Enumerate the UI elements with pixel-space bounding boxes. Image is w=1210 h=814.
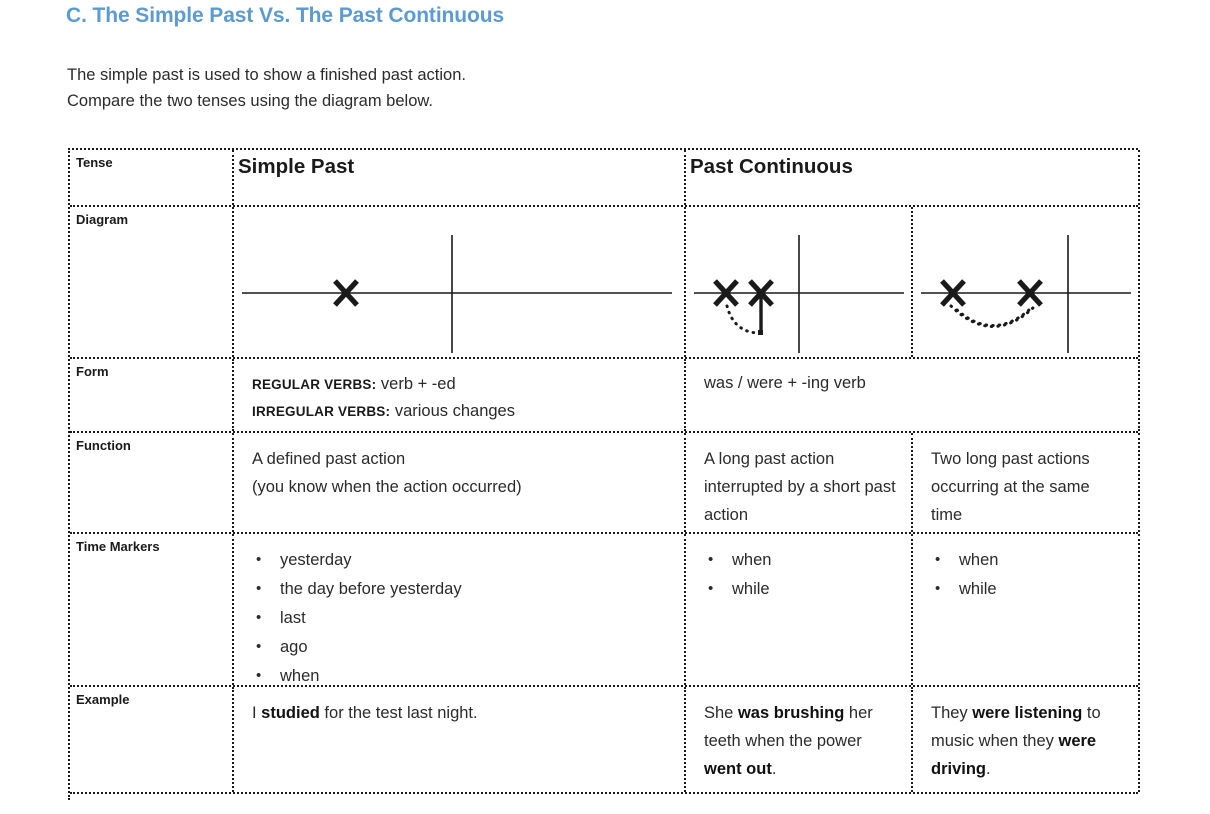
diagram-past-continuous-parallel [913, 207, 1138, 357]
example-pc-parallel-text: They were listening to music when they w… [927, 697, 1124, 783]
example-pc-interrupted-text: She was brushing her teeth when the powe… [700, 697, 897, 783]
function-pc-interrupted-cell: A long past action interrupted by a shor… [686, 433, 913, 532]
intro-line-2: Compare the two tenses using the diagram… [67, 88, 466, 114]
function-simple-past-line-1: A defined past action [252, 445, 670, 473]
time-markers-pc-parallel-cell: whenwhile [913, 534, 1140, 685]
example-simple-past-cell: I studied for the test last night. [234, 687, 686, 792]
form-regular-verbs-line: REGULAR VERBS: verb + -ed [252, 371, 670, 398]
diagram-simple-past [234, 207, 684, 357]
page-title: C. The Simple Past Vs. The Past Continuo… [66, 4, 504, 28]
diagram-past-continuous-interrupted [686, 207, 911, 357]
example-pc-parallel-cell: They were listening to music when they w… [913, 687, 1140, 792]
list-item: while [706, 575, 897, 604]
list-item: when [706, 546, 897, 575]
diagram-pc-interrupted-cell [686, 207, 913, 357]
form-irregular-verbs-line: IRREGULAR VERBS: various changes [252, 398, 670, 425]
function-pc-parallel-text: Two long past actions occurring at the s… [927, 443, 1124, 529]
list-item: while [933, 575, 1124, 604]
table-row-form: Form REGULAR VERBS: verb + -ed IRREGULAR… [70, 359, 1138, 433]
diagram-pc-parallel-cell [913, 207, 1140, 357]
row-label-form: Form [70, 359, 234, 431]
table-row-diagram: Diagram [70, 207, 1138, 359]
row-label-time-markers: Time Markers [70, 534, 234, 685]
table-row-example: Example I studied for the test last nigh… [70, 687, 1138, 794]
example-pc-interrupted-cell: She was brushing her teeth when the powe… [686, 687, 913, 792]
table-row-function: Function A defined past action (you know… [70, 433, 1138, 534]
form-regular-verbs-value: verb + -ed [381, 375, 456, 393]
form-regular-verbs-label: REGULAR VERBS: [252, 377, 376, 392]
example-simple-past-text: I studied for the test last night. [248, 697, 670, 727]
function-pc-parallel-cell: Two long past actions occurring at the s… [913, 433, 1140, 532]
time-markers-pc-parallel-list: whenwhile [927, 544, 1124, 604]
list-item: last [254, 604, 670, 633]
form-past-continuous-value: was / were + -ing verb [700, 369, 1124, 397]
function-pc-interrupted-text: A long past action interrupted by a shor… [700, 443, 897, 529]
time-markers-simple-past-cell: yesterdaythe day before yesterdaylastago… [234, 534, 686, 685]
form-simple-past-cell: REGULAR VERBS: verb + -ed IRREGULAR VERB… [234, 359, 686, 431]
time-markers-simple-past-list: yesterdaythe day before yesterdaylastago… [248, 544, 670, 691]
time-markers-pc-interrupted-list: whenwhile [700, 544, 897, 604]
intro-paragraph: The simple past is used to show a finish… [67, 62, 466, 114]
list-item: the day before yesterday [254, 575, 670, 604]
table-header-row: Tense Simple Past Past Continuous [70, 150, 1138, 207]
row-label-diagram: Diagram [70, 207, 234, 357]
function-simple-past-cell: A defined past action (you know when the… [234, 433, 686, 532]
row-label-example: Example [70, 687, 234, 792]
list-item: when [933, 546, 1124, 575]
header-past-continuous: Past Continuous [686, 150, 1140, 205]
time-markers-pc-interrupted-cell: whenwhile [686, 534, 913, 685]
list-item: yesterday [254, 546, 670, 575]
table-row-time-markers: Time Markers yesterdaythe day before yes… [70, 534, 1138, 687]
function-simple-past-line-2: (you know when the action occurred) [252, 473, 670, 501]
diagram-simple-past-cell [234, 207, 686, 357]
list-item: ago [254, 633, 670, 662]
tense-comparison-table: Tense Simple Past Past Continuous Diagra… [68, 148, 1138, 800]
form-past-continuous-cell: was / were + -ing verb [686, 359, 1140, 431]
form-irregular-verbs-label: IRREGULAR VERBS: [252, 404, 390, 419]
form-irregular-verbs-value: various changes [395, 402, 515, 420]
row-label-function: Function [70, 433, 234, 532]
header-label-tense: Tense [70, 150, 234, 205]
intro-line-1: The simple past is used to show a finish… [67, 62, 466, 88]
header-simple-past: Simple Past [234, 150, 686, 205]
